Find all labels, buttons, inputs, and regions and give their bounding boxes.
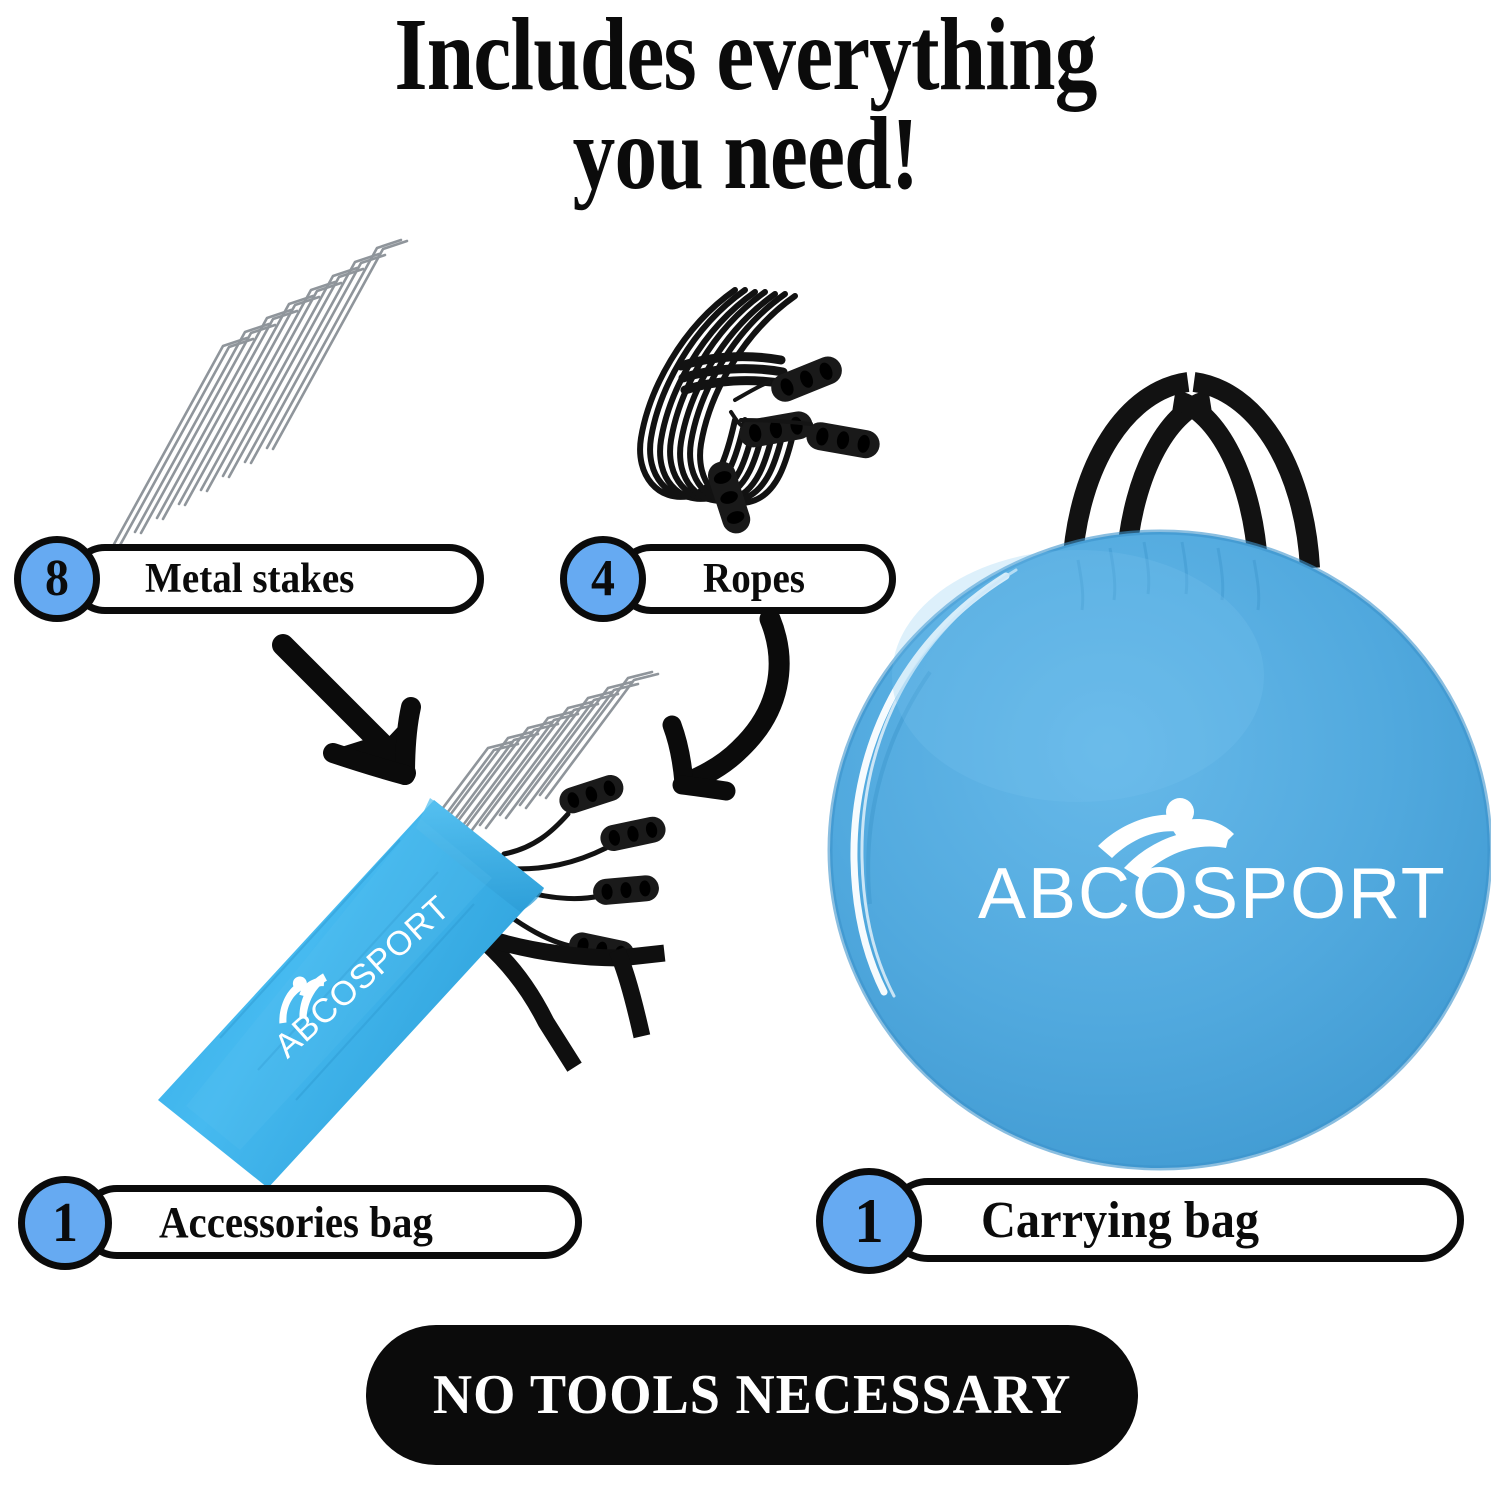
badge-accessories-bag-count: 1 bbox=[18, 1176, 112, 1270]
carrying-bag-illustration: ABCOSPORT bbox=[810, 320, 1491, 1180]
badge-accessories-bag-pill: Accessories bag bbox=[80, 1185, 582, 1259]
badge-metal-stakes-pill: Metal stakes bbox=[70, 544, 484, 614]
badge-accessories-bag-count-value: 1 bbox=[52, 1195, 78, 1251]
badge-metal-stakes-count-value: 8 bbox=[45, 553, 69, 605]
badge-carrying-bag: Carrying bag 1 bbox=[816, 1168, 1464, 1272]
badge-metal-stakes: Metal stakes 8 bbox=[14, 536, 484, 622]
badge-carrying-bag-label: Carrying bag bbox=[981, 1191, 1259, 1250]
badge-ropes-pill: Ropes bbox=[616, 544, 896, 614]
metal-stakes-illustration bbox=[95, 250, 515, 550]
badge-ropes-count: 4 bbox=[560, 536, 646, 622]
badge-carrying-bag-pill: Carrying bag bbox=[886, 1178, 1464, 1262]
infographic-canvas: Includes everything you need! bbox=[0, 0, 1491, 1500]
badge-carrying-bag-count-value: 1 bbox=[854, 1189, 883, 1253]
badge-ropes: Ropes 4 bbox=[560, 536, 896, 622]
badge-metal-stakes-label: Metal stakes bbox=[145, 555, 354, 603]
badge-metal-stakes-count: 8 bbox=[14, 536, 100, 622]
badge-accessories-bag-label: Accessories bag bbox=[159, 1197, 433, 1248]
badge-carrying-bag-count: 1 bbox=[816, 1168, 922, 1274]
footer-banner: NO TOOLS NECESSARY bbox=[366, 1325, 1138, 1465]
badge-ropes-label: Ropes bbox=[703, 555, 805, 603]
page-title-line2: you need! bbox=[134, 105, 1357, 204]
page-title: Includes everything you need! bbox=[134, 6, 1357, 204]
badge-ropes-count-value: 4 bbox=[591, 553, 615, 605]
footer-banner-text: NO TOOLS NECESSARY bbox=[433, 1363, 1071, 1427]
badge-accessories-bag: Accessories bag 1 bbox=[18, 1176, 582, 1268]
accessories-bag-illustration: ABCOSPORT bbox=[100, 690, 720, 1180]
svg-text:ABCOSPORT: ABCOSPORT bbox=[978, 854, 1447, 934]
